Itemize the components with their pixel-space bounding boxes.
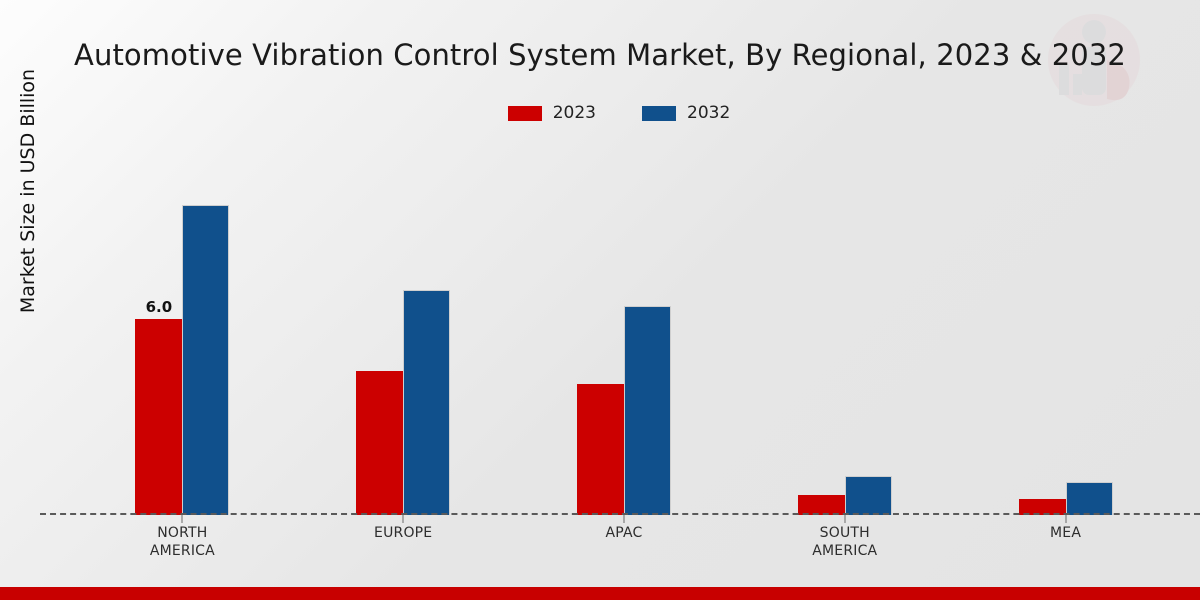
bar-group-north-america: 6.0 NORTH AMERICA	[72, 140, 293, 515]
page-title: Automotive Vibration Control System Mark…	[0, 38, 1200, 72]
bars-apac	[577, 140, 671, 515]
bar-europe-2023[interactable]	[356, 371, 403, 515]
axis-tick-north-america	[182, 515, 183, 523]
bar-apac-2023[interactable]	[577, 384, 624, 515]
bar-value-north-america-2023: 6.0	[146, 298, 173, 316]
category-label-north-america: NORTH AMERICA	[150, 525, 215, 560]
bar-europe-2032[interactable]	[403, 290, 450, 515]
y-axis-title: Market Size in USD Billion	[17, 0, 39, 387]
bar-groups: 6.0 NORTH AMERICA EUROPE	[72, 140, 1176, 515]
bar-mea-2032[interactable]	[1066, 482, 1113, 515]
bar-group-apac: APAC	[514, 140, 735, 515]
category-label-europe: EUROPE	[374, 525, 432, 543]
bar-south-america-2032[interactable]	[845, 476, 892, 515]
category-label-apac: APAC	[605, 525, 642, 543]
axis-tick-south-america	[844, 515, 845, 523]
bars-mea	[1019, 140, 1113, 515]
axis-tick-apac	[623, 515, 624, 523]
legend-item-2023[interactable]: 2023	[508, 105, 596, 122]
category-label-mea: MEA	[1050, 525, 1081, 543]
plot-area: 6.0 NORTH AMERICA EUROPE	[40, 140, 1200, 515]
bars-europe	[356, 140, 450, 515]
bar-group-europe: EUROPE	[293, 140, 514, 515]
legend-label-2023: 2023	[553, 105, 596, 122]
bar-group-mea: MEA	[955, 140, 1176, 515]
legend-swatch-2023-icon	[508, 106, 542, 121]
legend-item-2032[interactable]: 2032	[642, 105, 730, 122]
bar-south-america-2023[interactable]	[798, 495, 845, 515]
bar-group-south-america: SOUTH AMERICA	[734, 140, 955, 515]
footer-accent-band	[0, 587, 1200, 600]
bars-north-america: 6.0	[135, 140, 229, 515]
category-label-south-america: SOUTH AMERICA	[812, 525, 877, 560]
legend-swatch-2032-icon	[642, 106, 676, 121]
axis-tick-mea	[1065, 515, 1066, 523]
axis-tick-europe	[403, 515, 404, 523]
bar-north-america-2032[interactable]	[182, 205, 229, 515]
x-axis-baseline	[40, 513, 1200, 515]
chart-legend: 2023 2032	[0, 105, 1200, 122]
bar-north-america-2023[interactable]: 6.0	[135, 319, 182, 515]
legend-label-2032: 2032	[687, 105, 730, 122]
chart-container: Automotive Vibration Control System Mark…	[0, 0, 1200, 600]
bars-south-america	[798, 140, 892, 515]
bar-apac-2032[interactable]	[624, 306, 671, 515]
